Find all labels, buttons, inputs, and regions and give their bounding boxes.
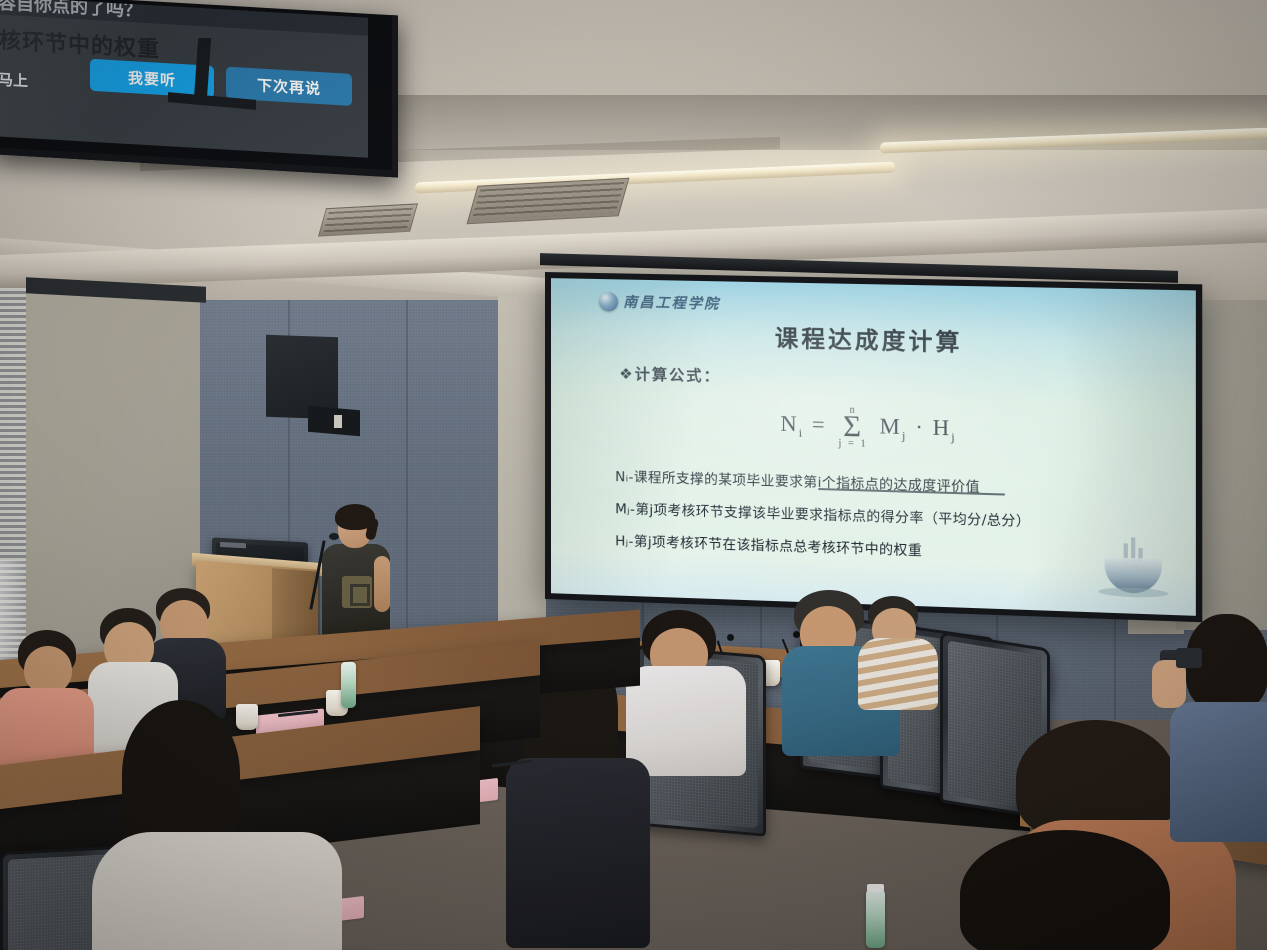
institution-name: 南昌工程学院 <box>623 292 720 314</box>
globe-icon <box>599 292 618 311</box>
bottle-cap <box>867 884 884 892</box>
tv-top-text: 内容自你点的了吗？ <box>0 0 142 23</box>
slide-definition-line: Hⱼ-第j项考核环节在该指标点总考核环节中的权重 <box>615 529 1164 567</box>
sigma-lower-limit: j = 1 <box>838 439 867 450</box>
formula-term-1: M <box>880 413 902 439</box>
slide-definition-line: Nᵢ-课程所支撑的某项毕业要求第i个指标点的达成度评价值 <box>615 465 1164 501</box>
glasses-icon <box>340 524 370 533</box>
presenter <box>316 508 394 640</box>
formula-term-1-sub: j <box>902 428 908 442</box>
formula-term-2-sub: j <box>951 430 957 444</box>
formula-equals: = <box>812 411 827 437</box>
institution-logo: 南昌工程学院 <box>599 291 720 314</box>
formula-lhs: N <box>780 411 798 437</box>
water-bottle <box>341 662 356 708</box>
paper-cup <box>236 704 258 730</box>
shirt-graphic <box>342 576 372 608</box>
tv-screen[interactable]: 内容自你点的了吗？ 考核环节中的权重 网络 联网马上 我要听 下次再说 <box>0 0 368 158</box>
slide-definition-line: Mⱼ-第j项考核环节支撑该毕业要求指标点的得分率（平均分/总分） <box>615 497 1164 534</box>
summation-symbol: n Σ j = 1 <box>838 405 867 449</box>
formula-lhs-sub: i <box>799 426 804 440</box>
slide-title: 课程达成度计算 <box>551 314 1196 363</box>
sigma-glyph: Σ <box>843 414 863 441</box>
speaker-led-icon <box>334 415 342 428</box>
projection-screen: 南昌工程学院 课程达成度计算 ❖计算公式： Ni = n Σ j = 1 Mj … <box>545 272 1202 622</box>
desk-microphone-head <box>793 631 800 638</box>
formula-term-2: H <box>933 414 952 440</box>
presenter-arm <box>374 556 390 612</box>
formula-dot: · <box>915 414 925 440</box>
slide-bullet-heading: ❖计算公式： <box>619 363 721 387</box>
ceiling-air-vent <box>318 203 418 236</box>
presentation-slide: 南昌工程学院 课程达成度计算 ❖计算公式： Ni = n Σ j = 1 Mj … <box>551 278 1196 616</box>
porcelain-bowl-decoration <box>1098 540 1168 600</box>
desk-microphone-head <box>727 634 734 641</box>
conference-room-photo: 内容自你点的了吗？ 考核环节中的权重 网络 联网马上 我要听 下次再说 南昌工程… <box>0 0 1267 950</box>
water-bottle <box>866 890 885 948</box>
slide-formula: Ni = n Σ j = 1 Mj · Hj <box>551 398 1196 459</box>
